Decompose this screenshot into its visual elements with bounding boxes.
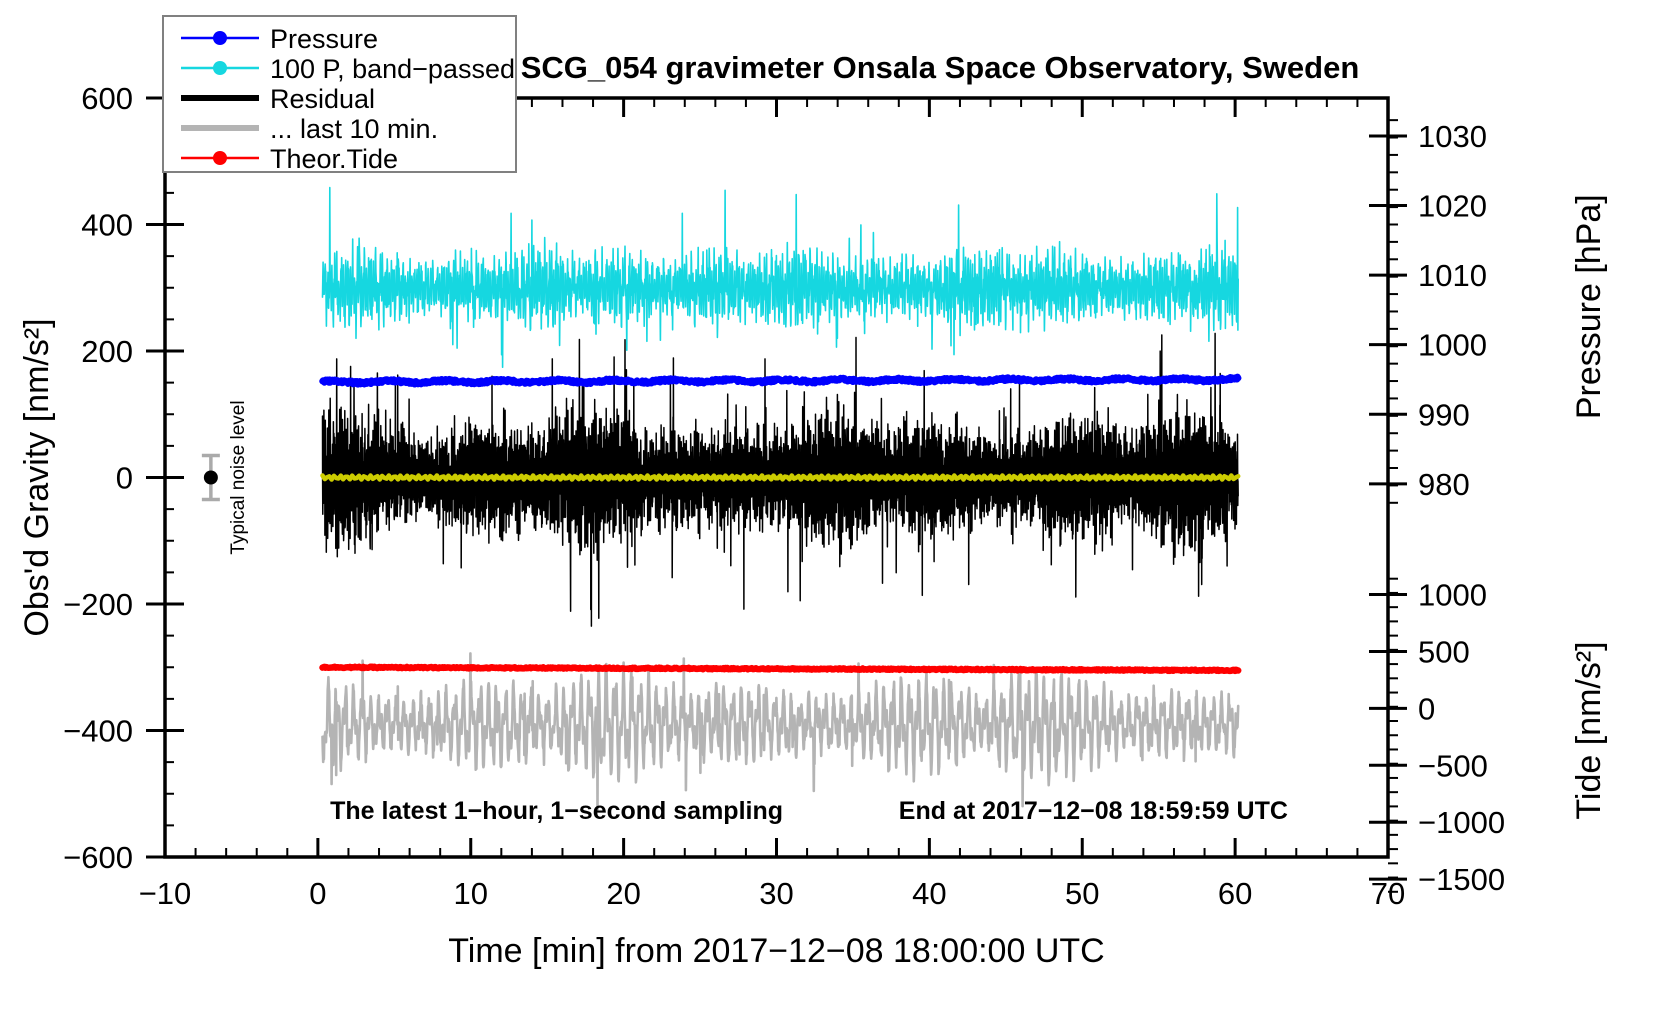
legend-label: Residual: [270, 84, 375, 114]
y-tick-label: 400: [81, 208, 133, 243]
chart-title: SCG_054 gravimeter Onsala Space Observat…: [521, 50, 1360, 85]
legend-swatch-marker: [213, 31, 227, 45]
x-tick-label: 0: [309, 876, 326, 911]
pressure-tick-label: 1000: [1418, 328, 1487, 363]
end-time-note: End at 2017−12−08 18:59:59 UTC: [899, 797, 1288, 825]
y-tick-label: 0: [116, 461, 133, 496]
y-axis-title: Obs'd Gravity [nm/s²]: [18, 318, 56, 636]
legend-swatch-marker: [213, 61, 227, 75]
pressure-tick-label: 1020: [1418, 189, 1487, 224]
tide-tick-label: −500: [1418, 748, 1488, 783]
tide-tick-label: −1000: [1418, 805, 1505, 840]
trace-theoretical-tide: [323, 667, 1239, 671]
x-tick-label: 40: [912, 876, 946, 911]
y-tick-label: −400: [63, 714, 133, 749]
legend-label: 100 P, band−passed: [270, 54, 515, 84]
x-axis-title: Time [min] from 2017−12−08 18:00:00 UTC: [448, 932, 1104, 970]
noise-errorbar-point: [204, 471, 218, 485]
noise-level-label: Typical noise level: [228, 400, 249, 554]
tide-tick-label: 500: [1418, 634, 1470, 669]
legend-label: Theor.Tide: [270, 144, 398, 174]
x-tick-label: 60: [1218, 876, 1252, 911]
y-tick-label: 600: [81, 81, 133, 116]
legend-label: Pressure: [270, 24, 378, 54]
legend-swatch-marker: [213, 151, 227, 165]
tide-axis-title: Tide [nm/s²]: [1570, 641, 1608, 819]
pressure-tick-label: 980: [1418, 467, 1470, 502]
x-tick-label: 70: [1371, 876, 1405, 911]
pressure-axis-title: Pressure [hPa]: [1570, 194, 1608, 419]
sampling-note: The latest 1−hour, 1−second sampling: [330, 797, 783, 825]
tide-tick-label: 1000: [1418, 578, 1487, 613]
x-tick-label: 20: [606, 876, 640, 911]
pressure-tick-label: 1010: [1418, 258, 1487, 293]
pressure-tick-label: 990: [1418, 397, 1470, 432]
legend-label: ... last 10 min.: [270, 114, 438, 144]
y-tick-label: 200: [81, 334, 133, 369]
gravimeter-chart: −10010203040506070Time [min] from 2017−1…: [0, 0, 1660, 1020]
pressure-tick-label: 1030: [1418, 119, 1487, 154]
legend: Pressure100 P, band−passedResidual... la…: [163, 16, 516, 174]
x-tick-label: −10: [139, 876, 192, 911]
y-tick-label: −600: [63, 840, 133, 875]
x-tick-label: 30: [759, 876, 793, 911]
chart-page: −10010203040506070Time [min] from 2017−1…: [0, 0, 1660, 1020]
x-tick-label: 50: [1065, 876, 1099, 911]
tide-tick-label: 0: [1418, 691, 1435, 726]
trace-zero-reference: [323, 476, 1239, 480]
tide-tick-label: −1500: [1418, 862, 1505, 897]
x-tick-label: 10: [454, 876, 488, 911]
y-tick-label: −200: [63, 587, 133, 622]
